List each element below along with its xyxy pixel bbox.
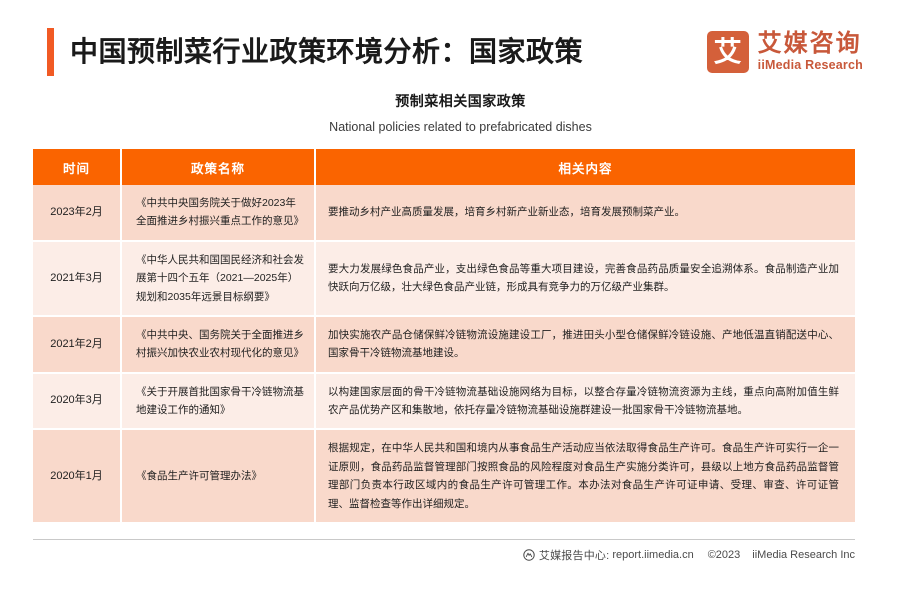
subtitle-cn: 预制菜相关国家政策 bbox=[0, 92, 921, 110]
column-header-policy-name: 政策名称 bbox=[121, 149, 315, 185]
brand-logo: 艾 艾媒咨询 iiMedia Research bbox=[707, 31, 863, 73]
cell-policy-name: 《中共中央国务院关于做好2023年全面推进乡村振兴重点工作的意见》 bbox=[121, 185, 315, 241]
table-row: 2021年2月 《中共中央、国务院关于全面推进乡村振兴加快农业农村现代化的意见》… bbox=[33, 316, 855, 373]
footer-organization: iiMedia Research Inc bbox=[752, 549, 855, 561]
cell-policy-name: 《食品生产许可管理办法》 bbox=[121, 429, 315, 523]
brand-mark-icon: 艾 bbox=[707, 31, 749, 73]
column-header-related-content: 相关内容 bbox=[315, 149, 855, 185]
cell-time: 2020年1月 bbox=[33, 429, 121, 523]
cell-time: 2021年2月 bbox=[33, 316, 121, 373]
page-title: 中国预制菜行业政策环境分析：国家政策 bbox=[70, 37, 583, 68]
footer-content: 艾媒报告中心: report.iimedia.cn ©2023 iiMedia … bbox=[33, 547, 855, 563]
column-header-time: 时间 bbox=[33, 149, 121, 185]
footer-report-center-label: 艾媒报告中心: bbox=[539, 547, 609, 563]
report-center-icon bbox=[523, 549, 535, 561]
table-row: 2021年3月 《中华人民共和国国民经济和社会发展第十四个五年（2021—202… bbox=[33, 241, 855, 316]
table-header-row: 时间 政策名称 相关内容 bbox=[33, 149, 855, 185]
footer-url[interactable]: report.iimedia.cn bbox=[612, 549, 693, 561]
cell-content: 以构建国家层面的骨干冷链物流基础设施网络为目标，以整合存量冷链物流资源为主线，重… bbox=[315, 373, 855, 430]
footer-copyright: ©2023 bbox=[708, 549, 741, 561]
policy-table: 时间 政策名称 相关内容 2023年2月 《中共中央国务院关于做好2023年全面… bbox=[33, 149, 855, 524]
brand-name-cn: 艾媒咨询 bbox=[758, 31, 863, 57]
page-header: 中国预制菜行业政策环境分析：国家政策 艾 艾媒咨询 iiMedia Resear… bbox=[0, 0, 921, 92]
cell-time: 2020年3月 bbox=[33, 373, 121, 430]
cell-content: 根据规定，在中华人民共和国和境内从事食品生产活动应当依法取得食品生产许可。食品生… bbox=[315, 429, 855, 523]
brand-name-en: iiMedia Research bbox=[758, 58, 863, 72]
table-header: 时间 政策名称 相关内容 bbox=[33, 149, 855, 185]
cell-time: 2021年3月 bbox=[33, 241, 121, 316]
cell-time: 2023年2月 bbox=[33, 185, 121, 241]
subtitle-block: 预制菜相关国家政策 National policies related to p… bbox=[0, 92, 921, 135]
title-accent-bar bbox=[47, 28, 54, 76]
table-row: 2020年3月 《关于开展首批国家骨干冷链物流基地建设工作的通知》 以构建国家层… bbox=[33, 373, 855, 430]
cell-content: 要推动乡村产业高质量发展，培育乡村新产业新业态，培育发展预制菜产业。 bbox=[315, 185, 855, 241]
cell-policy-name: 《中共中央、国务院关于全面推进乡村振兴加快农业农村现代化的意见》 bbox=[121, 316, 315, 373]
footer-divider bbox=[33, 539, 855, 540]
page-title-wrap: 中国预制菜行业政策环境分析：国家政策 bbox=[47, 28, 583, 76]
brand-text: 艾媒咨询 iiMedia Research bbox=[758, 31, 863, 72]
cell-content: 加快实施农产品仓储保鲜冷链物流设施建设工厂，推进田头小型仓储保鲜冷链设施、产地低… bbox=[315, 316, 855, 373]
cell-content: 要大力发展绿色食品产业，支出绿色食品等重大项目建设，完善食品药品质量安全追溯体系… bbox=[315, 241, 855, 316]
subtitle-en: National policies related to prefabricat… bbox=[0, 119, 921, 135]
cell-policy-name: 《中华人民共和国国民经济和社会发展第十四个五年（2021—2025年）规划和20… bbox=[121, 241, 315, 316]
table-row: 2023年2月 《中共中央国务院关于做好2023年全面推进乡村振兴重点工作的意见… bbox=[33, 185, 855, 241]
table-body: 2023年2月 《中共中央国务院关于做好2023年全面推进乡村振兴重点工作的意见… bbox=[33, 185, 855, 523]
cell-policy-name: 《关于开展首批国家骨干冷链物流基地建设工作的通知》 bbox=[121, 373, 315, 430]
table-row: 2020年1月 《食品生产许可管理办法》 根据规定，在中华人民共和国和境内从事食… bbox=[33, 429, 855, 523]
page-footer: 艾媒报告中心: report.iimedia.cn ©2023 iiMedia … bbox=[33, 539, 855, 563]
